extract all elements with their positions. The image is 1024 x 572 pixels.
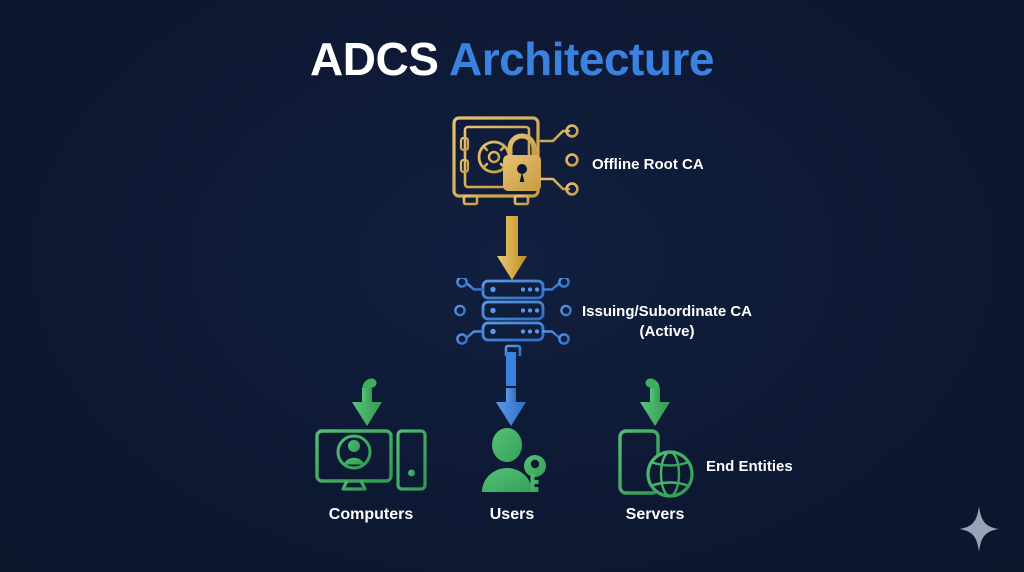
label-issuing-line1: Issuing/Subordinate CA	[582, 302, 752, 322]
desktop-computer-icon	[314, 428, 428, 494]
caption-users: Users	[450, 506, 574, 524]
user-key-icon	[478, 428, 550, 494]
node-users[interactable]	[478, 428, 550, 494]
title-primary: ADCS	[310, 33, 438, 85]
sparkle-icon	[958, 506, 1000, 552]
connector-issuing-to-end-entities	[330, 352, 694, 430]
node-computers[interactable]	[314, 428, 428, 494]
label-end-entities: End Entities	[706, 457, 793, 477]
label-issuing-line2: (Active)	[582, 322, 752, 342]
safe-lock-icon	[448, 112, 584, 212]
server-globe-icon	[616, 428, 698, 498]
label-issuing-subordinate-ca: Issuing/Subordinate CA (Active)	[582, 302, 752, 343]
connector-root-to-issuing	[494, 216, 530, 282]
node-servers[interactable]	[616, 428, 698, 498]
caption-servers: Servers	[594, 506, 716, 524]
branch-connectors-icon	[330, 352, 694, 430]
slide-canvas: ADCS Architecture	[0, 0, 1024, 572]
node-offline-root-ca[interactable]	[448, 112, 584, 212]
arrow-down-icon	[494, 216, 530, 282]
label-offline-root-ca: Offline Root CA	[592, 155, 704, 175]
node-issuing-subordinate-ca[interactable]	[452, 278, 574, 356]
page-title: ADCS Architecture	[0, 34, 1024, 85]
server-stack-icon	[452, 278, 574, 356]
caption-computers: Computers	[300, 506, 442, 524]
title-secondary: Architecture	[449, 33, 714, 85]
